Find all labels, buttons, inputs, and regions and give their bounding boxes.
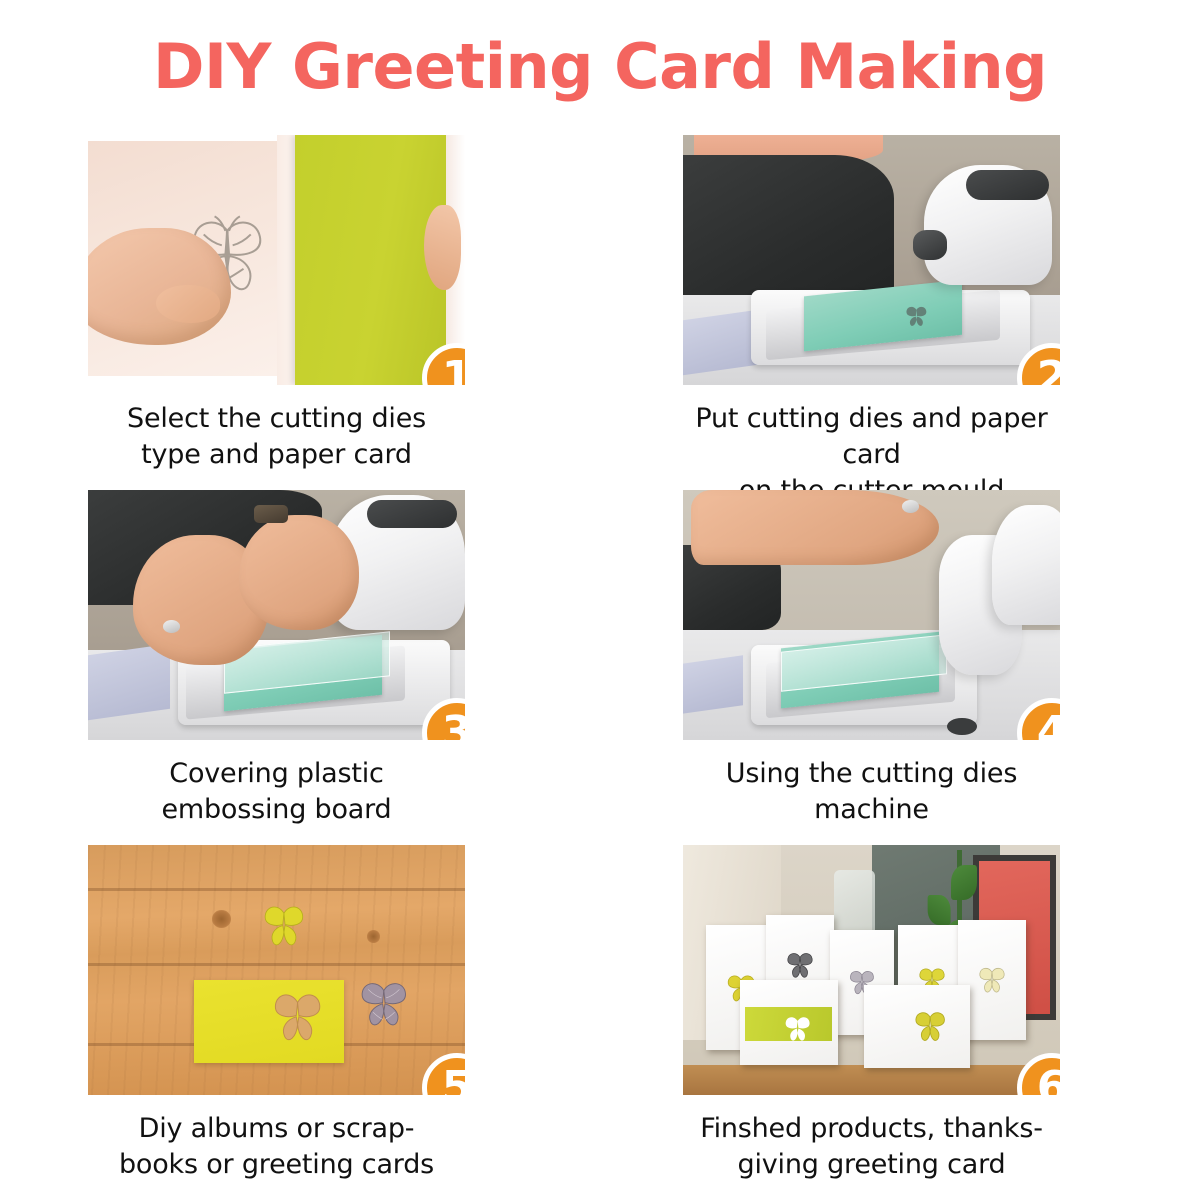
cut-yellow-butterfly bbox=[250, 898, 318, 953]
hand bbox=[88, 228, 231, 346]
dark-shirt bbox=[683, 155, 894, 310]
thumb bbox=[424, 205, 462, 290]
step-5-caption-line1: Diy albums or scrap- bbox=[119, 1111, 434, 1147]
ring bbox=[163, 620, 180, 633]
greeting-card-front bbox=[864, 985, 970, 1068]
machine-knob bbox=[913, 230, 947, 260]
wooden-shelf bbox=[683, 1065, 1060, 1095]
step-3-caption-line1: Covering plastic bbox=[161, 756, 391, 792]
arm bbox=[691, 490, 940, 565]
greeting-card-front bbox=[740, 980, 838, 1065]
step-1-caption: Select the cutting dies type and paper c… bbox=[88, 385, 465, 490]
step-5-photo: 5 bbox=[88, 845, 465, 1095]
step-1-image-cell: 1 bbox=[88, 135, 465, 385]
step-6-caption-line1: Finshed products, thanks- bbox=[700, 1111, 1043, 1147]
step-2-caption-line1: Put cutting dies and paper card bbox=[683, 401, 1060, 473]
machine-handle bbox=[367, 500, 457, 528]
step-2-image-cell: 2 bbox=[683, 135, 1060, 385]
step-6-photo: 6 bbox=[683, 845, 1060, 1095]
machine-handle bbox=[966, 170, 1049, 200]
step-3-caption: Covering plastic embossing board bbox=[88, 740, 465, 845]
step-5-caption: Diy albums or scrap- books or greeting c… bbox=[88, 1095, 465, 1200]
step-2-photo: 2 bbox=[683, 135, 1060, 385]
butterfly-icon bbox=[973, 951, 1011, 1009]
metal-butterfly-die bbox=[348, 975, 420, 1035]
step-5-image-cell: 5 bbox=[88, 845, 465, 1095]
step-2-caption: Put cutting dies and paper card on the c… bbox=[683, 385, 1060, 490]
butterfly-cutout bbox=[258, 983, 337, 1048]
leaf bbox=[928, 895, 951, 925]
step-6-image-cell: 6 bbox=[683, 845, 1060, 1095]
ring bbox=[902, 500, 919, 513]
step-1-caption-line2: type and paper card bbox=[127, 437, 426, 473]
leaf bbox=[951, 865, 977, 900]
step-1-caption-line1: Select the cutting dies bbox=[127, 401, 426, 437]
machine-side-plate bbox=[992, 505, 1060, 625]
step-4-caption: Using the cutting dies machine bbox=[683, 740, 1060, 845]
wristwatch bbox=[254, 505, 288, 523]
step-3-caption-line2: embossing board bbox=[161, 792, 391, 828]
step-3-photo: 3 bbox=[88, 490, 465, 740]
step-4-photo: 4 bbox=[683, 490, 1060, 740]
right-hand bbox=[239, 515, 360, 630]
page-title: DIY Greeting Card Making bbox=[0, 30, 1200, 103]
step-4-image-cell: 4 bbox=[683, 490, 1060, 740]
step-6-caption: Finshed products, thanks- giving greetin… bbox=[683, 1095, 1060, 1200]
step-4-caption-line1: Using the cutting dies machine bbox=[683, 756, 1060, 828]
butterfly-cutout-icon bbox=[779, 1009, 816, 1048]
infographic-page: DIY Greeting Card Making bbox=[0, 0, 1200, 1200]
step-1-photo: 1 bbox=[88, 135, 465, 385]
butterfly-icon bbox=[908, 1003, 952, 1049]
step-6-caption-line2: giving greeting card bbox=[700, 1147, 1043, 1183]
step-3-image-cell: 3 bbox=[88, 490, 465, 740]
butterfly-die-icon bbox=[890, 303, 943, 331]
steps-grid: 1 bbox=[88, 135, 1112, 1175]
step-5-caption-line2: books or greeting cards bbox=[119, 1147, 434, 1183]
